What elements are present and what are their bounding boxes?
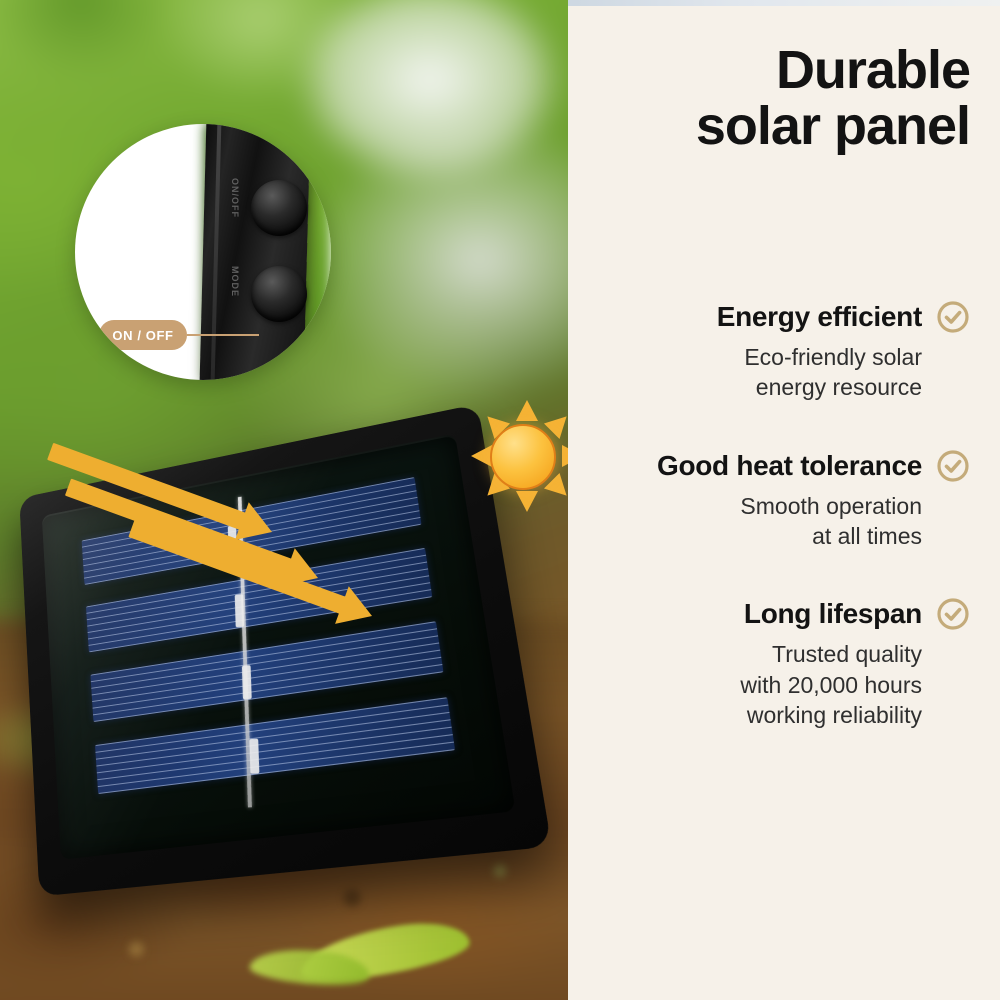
feature-item-energy-efficient: Energy efficient Eco-friendly solar ener… bbox=[568, 300, 1000, 403]
check-circle-icon bbox=[936, 449, 970, 483]
check-circle-icon bbox=[936, 300, 970, 334]
check-circle-icon bbox=[936, 597, 970, 631]
busbar-tab bbox=[235, 594, 245, 627]
info-panel: Durable solar panel Energy efficient Eco… bbox=[568, 0, 1000, 1000]
mode-emboss-label: MODE bbox=[227, 266, 240, 297]
feature-item-good-heat-tolerance: Good heat tolerance Smooth operation at … bbox=[568, 449, 1000, 552]
callout-leader-line bbox=[187, 334, 259, 336]
feature-list: Energy efficient Eco-friendly solar ener… bbox=[568, 300, 1000, 777]
feature-desc-line: with 20,000 hours bbox=[568, 670, 922, 700]
feature-title: Long lifespan bbox=[744, 598, 922, 630]
feature-desc-line: energy resource bbox=[568, 372, 922, 402]
sun-icon bbox=[462, 396, 582, 516]
sun-disc bbox=[490, 424, 556, 490]
feature-title: Good heat tolerance bbox=[657, 450, 922, 482]
product-feature-image: ON/OFF MODE ON / OFF MODE Durable solar … bbox=[0, 0, 1000, 1000]
mode-button[interactable] bbox=[251, 266, 307, 322]
onoff-emboss-label: ON/OFF bbox=[227, 178, 240, 218]
top-edge-strip bbox=[568, 0, 1000, 6]
sun-ray bbox=[516, 400, 538, 421]
power-button[interactable] bbox=[251, 180, 307, 236]
feature-description: Eco-friendly solar energy resource bbox=[568, 342, 970, 403]
button-callout-circle: ON/OFF MODE ON / OFF MODE bbox=[75, 124, 331, 380]
feature-desc-line: Eco-friendly solar bbox=[568, 342, 922, 372]
feature-title: Energy efficient bbox=[717, 301, 922, 333]
busbar-tab bbox=[249, 738, 259, 773]
title-line-1: Durable bbox=[590, 42, 970, 98]
feature-description: Trusted quality with 20,000 hours workin… bbox=[568, 639, 970, 730]
title-line-2: solar panel bbox=[590, 98, 970, 154]
sun-ray bbox=[516, 491, 538, 512]
feature-desc-line: Trusted quality bbox=[568, 639, 922, 669]
onoff-label-pill: ON / OFF bbox=[99, 320, 187, 350]
feature-desc-line: at all times bbox=[568, 521, 922, 551]
feature-heading-row: Good heat tolerance bbox=[568, 449, 970, 483]
feature-description: Smooth operation at all times bbox=[568, 491, 970, 552]
feature-heading-row: Energy efficient bbox=[568, 300, 970, 334]
page-title: Durable solar panel bbox=[590, 42, 970, 154]
feature-desc-line: Smooth operation bbox=[568, 491, 922, 521]
feature-heading-row: Long lifespan bbox=[568, 597, 970, 631]
feature-desc-line: working reliability bbox=[568, 700, 922, 730]
busbar-tab bbox=[242, 665, 252, 699]
sun-ray bbox=[471, 445, 492, 467]
feature-item-long-lifespan: Long lifespan Trusted quality with 20,00… bbox=[568, 597, 1000, 730]
